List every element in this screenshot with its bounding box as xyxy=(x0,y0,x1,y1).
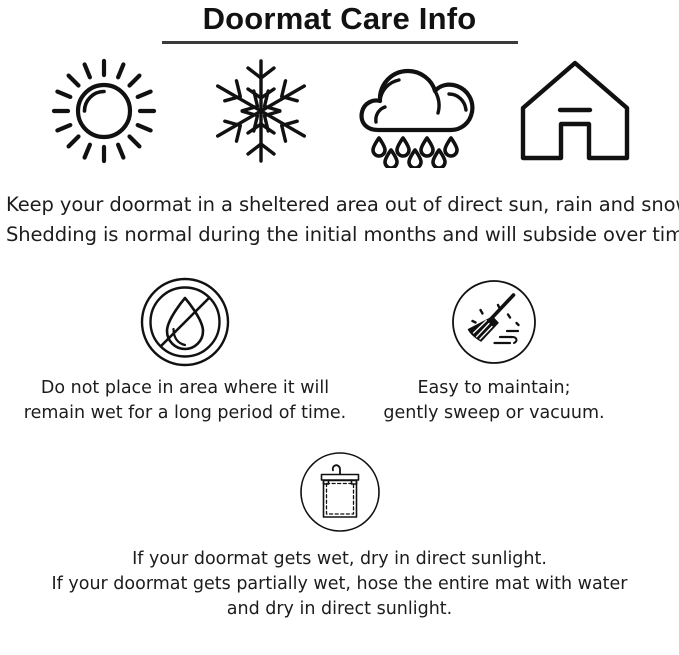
care-instructions-row: Do not place in area where it will remai… xyxy=(0,250,679,426)
drying-caption-line-3: and dry in direct sunlight. xyxy=(52,597,628,622)
weather-icon-cell-snow xyxy=(191,52,331,170)
intro-line-2: Shedding is normal during the initial mo… xyxy=(6,220,673,250)
care-item-easy-maintain: Easy to maintain; gently sweep or vacuum… xyxy=(349,276,639,426)
care-item-caption: Easy to maintain; gently sweep or vacuum… xyxy=(383,376,604,426)
drying-caption-line-2: If your doormat gets partially wet, hose… xyxy=(52,572,628,597)
drying-caption-line-1: If your doormat gets wet, dry in direct … xyxy=(52,547,628,572)
page-title: Doormat Care Info xyxy=(0,2,679,36)
rain-cloud-icon xyxy=(354,54,482,168)
intro-paragraph: Keep your doormat in a sheltered area ou… xyxy=(0,170,679,250)
care-caption-line-1: Do not place in area where it will xyxy=(24,376,346,401)
broom-sweep-icon xyxy=(450,278,538,366)
weather-icon-cell-sun xyxy=(34,52,174,170)
care-caption-line-1: Easy to maintain; xyxy=(383,376,604,401)
no-water-icon xyxy=(140,277,230,367)
sun-icon xyxy=(50,57,158,165)
weather-icon-cell-house xyxy=(505,52,645,170)
drying-caption: If your doormat gets wet, dry in direct … xyxy=(52,547,628,622)
care-item-no-standing-water: Do not place in area where it will remai… xyxy=(40,276,330,426)
care-item-caption: Do not place in area where it will remai… xyxy=(24,376,346,426)
care-caption-line-2: remain wet for a long period of time. xyxy=(24,401,346,426)
weather-icon-cell-rain xyxy=(348,52,488,170)
care-caption-line-2: gently sweep or vacuum. xyxy=(383,401,604,426)
hang-dry-badge xyxy=(294,446,386,538)
no-water-badge xyxy=(139,276,231,368)
drying-instructions-block: If your doormat gets wet, dry in direct … xyxy=(0,446,679,622)
intro-line-1: Keep your doormat in a sheltered area ou… xyxy=(6,190,673,220)
hang-dry-icon xyxy=(298,450,382,534)
weather-icon-row xyxy=(0,44,679,170)
house-icon xyxy=(517,58,633,164)
page-header: Doormat Care Info xyxy=(0,0,679,44)
snowflake-icon xyxy=(209,56,313,166)
broom-badge xyxy=(448,276,540,368)
